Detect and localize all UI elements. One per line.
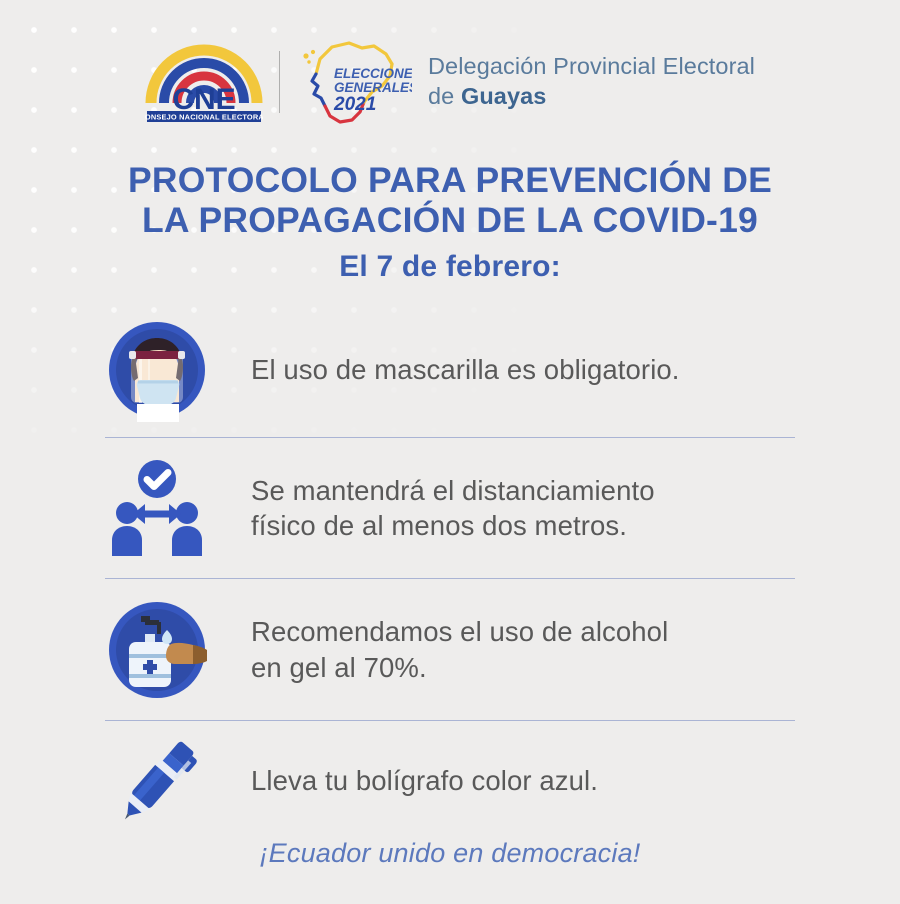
list-item-text-line: Lleva tu bolígrafo color azul. (251, 763, 598, 798)
list-item-text: Recomendamos el uso de alcohol en gel al… (251, 614, 668, 684)
blue-pen-icon (105, 729, 209, 833)
page-subtitle: El 7 de febrero: (0, 250, 900, 284)
elecciones-label-line1: ELECCIONES (334, 66, 412, 81)
header-divider (279, 51, 280, 113)
list-item-text: Lleva tu bolígrafo color azul. (251, 763, 598, 798)
list-item: Recomendamos el uso de alcohol en gel al… (0, 579, 900, 720)
delegation-prefix: de (428, 83, 461, 109)
face-shield-mask-icon (105, 318, 209, 422)
cne-logo-caption: CONSEJO NACIONAL ELECTORAL (145, 113, 263, 122)
list-item-text-line: Se mantendrá el distanciamiento (251, 473, 655, 508)
list-item-text-line: Recomendamos el uso de alcohol (251, 614, 668, 649)
list-item-text-line: El uso de mascarilla es obligatorio. (251, 352, 680, 387)
elecciones-generales-map-logo: ELECCIONES GENERALES 2021 (294, 34, 412, 130)
list-item-text-line: físico de al menos dos metros. (251, 508, 655, 543)
icon-cell (105, 579, 251, 720)
cne-logo: CNE CONSEJO NACIONAL ELECTORAL (145, 41, 263, 123)
icon-cell (105, 303, 251, 437)
tagline: ¡Ecuador unido en democracia! (0, 838, 900, 869)
delegation-line-1: Delegación Provincial Electoral (428, 52, 755, 82)
page-title-line-1: PROTOCOLO PARA PREVENCIÓN DE (0, 160, 900, 200)
list-item: Se mantendrá el distanciamiento físico d… (0, 438, 900, 578)
elecciones-label-line2: GENERALES (334, 80, 412, 95)
list-item-text-line: en gel al 70%. (251, 650, 668, 685)
delegation-line-2: de Guayas (428, 82, 755, 112)
elecciones-label-year: 2021 (333, 94, 376, 115)
list-item-text: El uso de mascarilla es obligatorio. (251, 352, 680, 387)
list-item: Lleva tu bolígrafo color azul. (0, 721, 900, 841)
protocol-list: El uso de mascarilla es obligatorio. (0, 303, 900, 841)
header: CNE CONSEJO NACIONAL ELECTORAL ELECCIONE… (0, 28, 900, 136)
delegation-title: Delegación Provincial Electoral de Guaya… (428, 52, 755, 111)
list-item-text: Se mantendrá el distanciamiento físico d… (251, 473, 655, 543)
physical-distancing-icon (105, 456, 209, 560)
infographic-poster: CNE CONSEJO NACIONAL ELECTORAL ELECCIONE… (0, 0, 900, 904)
hand-sanitizer-icon (105, 598, 209, 702)
page-title-line-2: LA PROPAGACIÓN DE LA COVID-19 (0, 200, 900, 240)
delegation-province: Guayas (461, 83, 547, 109)
icon-cell (105, 721, 251, 841)
list-item: El uso de mascarilla es obligatorio. (0, 303, 900, 437)
page-title: PROTOCOLO PARA PREVENCIÓN DE LA PROPAGAC… (0, 160, 900, 240)
icon-cell (105, 438, 251, 578)
